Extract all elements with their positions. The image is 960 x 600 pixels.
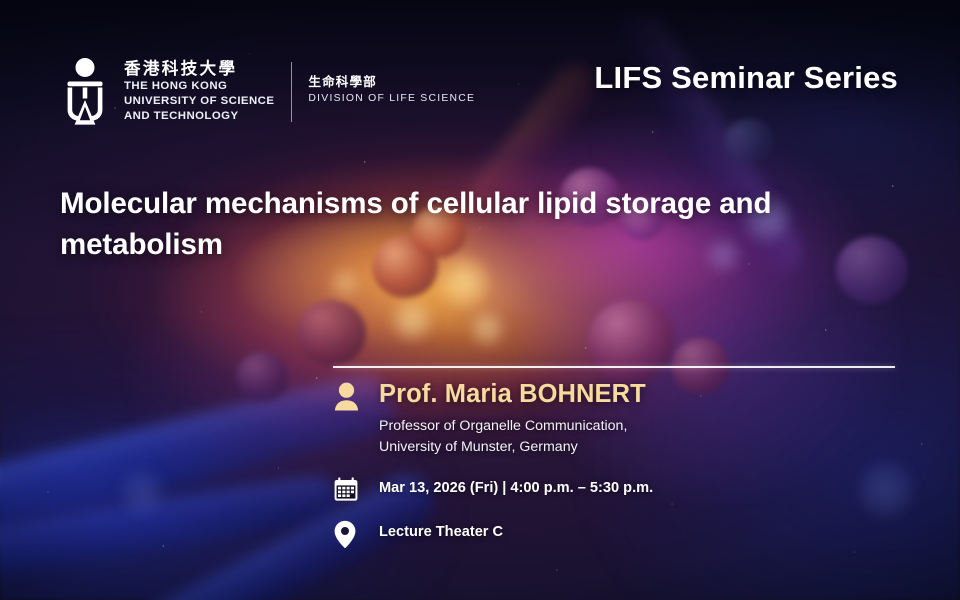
seminar-datetime: Mar 13, 2026 (Fri) | 4:00 p.m. – 5:30 p.…: [379, 474, 903, 497]
university-name-en-l3: AND TECHNOLOGY: [124, 109, 274, 124]
speaker-affiliation: Professor of Organelle Communication, Un…: [379, 416, 903, 458]
division-name-en: DIVISION OF LIFE SCIENCE: [308, 91, 475, 106]
location-pin-icon: [333, 520, 357, 549]
person-icon: [333, 382, 360, 411]
detail-row-venue: Lecture Theater C: [333, 518, 903, 549]
calendar-icon-slot: [333, 474, 379, 502]
seminar-details: Prof. Maria BOHNERT Professor of Organel…: [333, 380, 903, 549]
detail-row-speaker: Prof. Maria BOHNERT Professor of Organel…: [333, 380, 903, 458]
university-name-en-l1: THE HONG KONG: [124, 79, 274, 94]
division-name-block: 生命科學部 DIVISION OF LIFE SCIENCE: [308, 60, 475, 106]
university-name-block: 香港科技大學 THE HONG KONG UNIVERSITY OF SCIEN…: [124, 60, 274, 124]
venue-info: Lecture Theater C: [379, 518, 903, 541]
datetime-info: Mar 13, 2026 (Fri) | 4:00 p.m. – 5:30 p.…: [379, 474, 903, 497]
university-name-en-l2: UNIVERSITY OF SCIENCE: [124, 94, 274, 109]
speaker-name: Prof. Maria BOHNERT: [379, 380, 903, 409]
brand-names: 香港科技大學 THE HONG KONG UNIVERSITY OF SCIEN…: [124, 60, 475, 124]
speaker-affiliation-line1: Professor of Organelle Communication,: [379, 416, 903, 437]
hkust-logo-icon: [60, 56, 110, 128]
speaker-info: Prof. Maria BOHNERT Professor of Organel…: [379, 380, 903, 458]
detail-row-datetime: Mar 13, 2026 (Fri) | 4:00 p.m. – 5:30 p.…: [333, 474, 903, 502]
location-icon-slot: [333, 518, 379, 549]
calendar-icon: [333, 476, 359, 502]
brand-divider: [291, 62, 292, 122]
speaker-icon-slot: [333, 380, 379, 411]
poster-content: 香港科技大學 THE HONG KONG UNIVERSITY OF SCIEN…: [0, 0, 960, 600]
seminar-title: Molecular mechanisms of cellular lipid s…: [60, 183, 860, 266]
seminar-poster: 香港科技大學 THE HONG KONG UNIVERSITY OF SCIEN…: [0, 0, 960, 600]
seminar-venue: Lecture Theater C: [379, 518, 903, 541]
hkust-brand-lockup: 香港科技大學 THE HONG KONG UNIVERSITY OF SCIEN…: [60, 56, 475, 128]
university-name-zh: 香港科技大學: [124, 60, 274, 79]
series-title: LIFS Seminar Series: [594, 60, 898, 96]
division-name-zh: 生命科學部: [308, 74, 475, 91]
section-divider: [333, 366, 895, 368]
speaker-affiliation-line2: University of Munster, Germany: [379, 437, 903, 458]
